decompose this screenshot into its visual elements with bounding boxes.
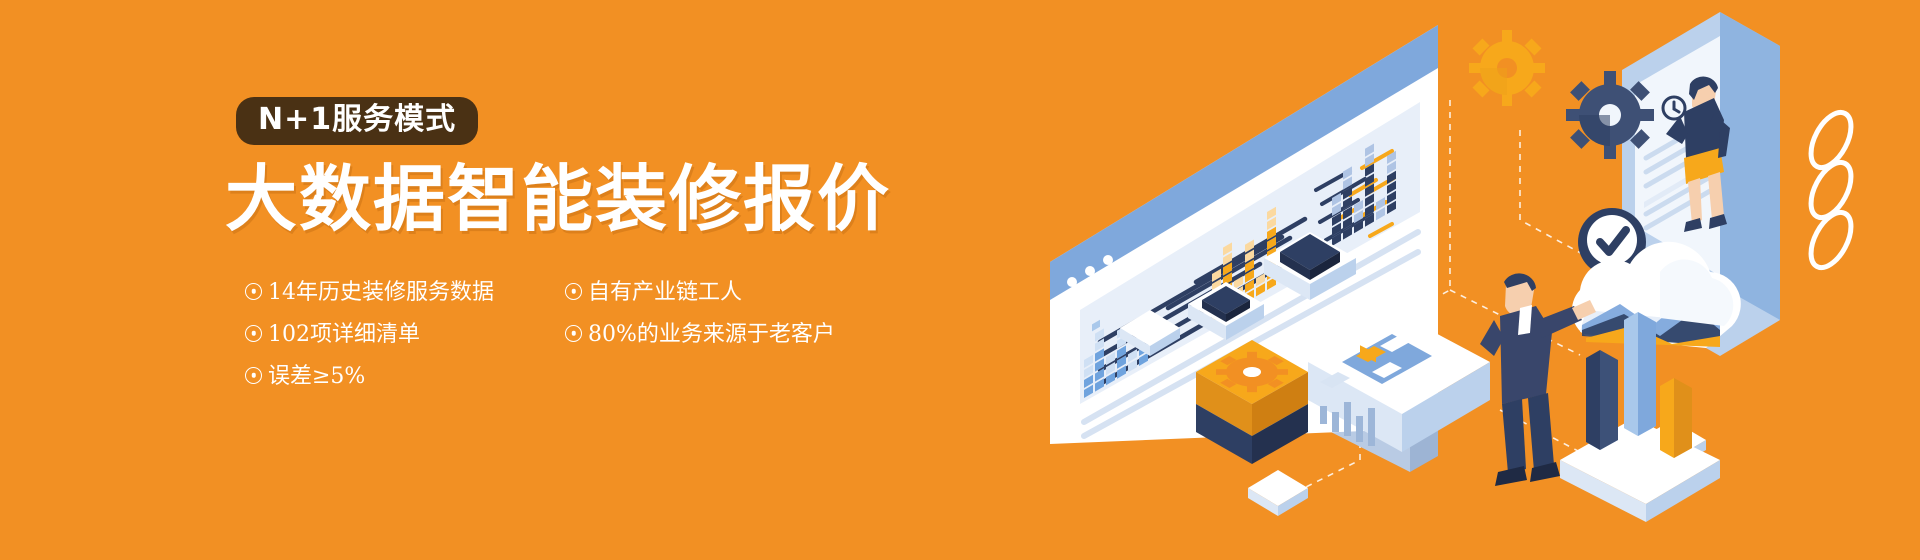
bullet-column-right: 80%的业务来源于老客户 <box>565 314 885 356</box>
list-item: 14年历史装修服务数据 <box>245 272 565 314</box>
list-item: 80%的业务来源于老客户 <box>565 314 885 356</box>
navy-gear-icon <box>1566 71 1654 159</box>
bullet-column-left: 102项详细清单 <box>245 314 565 356</box>
bullet-column-right: 自有产业链工人 <box>565 272 885 314</box>
orange-gear-icon <box>1469 30 1545 106</box>
target-dot-icon <box>245 325 262 342</box>
list-item: 误差≥5% <box>245 356 565 398</box>
bullet-row: 误差≥5% <box>245 356 885 398</box>
bullet-row: 14年历史装修服务数据 自有产业链工人 <box>245 272 885 314</box>
list-item-label: 80%的业务来源于老客户 <box>588 322 835 347</box>
ring-stack <box>1803 106 1859 274</box>
promo-banner: N+1服务模式 大数据智能装修报价 14年历史装修服务数据 自有产业链工人 <box>0 0 1920 560</box>
list-item-label: 14年历史装修服务数据 <box>268 280 494 305</box>
list-item: 自有产业链工人 <box>565 272 885 314</box>
list-item-label: 自有产业链工人 <box>588 280 742 305</box>
target-dot-icon <box>245 367 262 384</box>
target-dot-icon <box>245 283 262 300</box>
list-item-label: 102项详细清单 <box>268 322 420 347</box>
bullet-row: 102项详细清单 80%的业务来源于老客户 <box>245 314 885 356</box>
window-dot <box>1085 266 1095 276</box>
service-model-badge: N+1服务模式 <box>236 97 478 145</box>
bullet-column-left: 14年历史装修服务数据 <box>245 272 565 314</box>
list-item-label: 误差≥5% <box>268 364 365 389</box>
target-dot-icon <box>565 325 582 342</box>
target-dot-icon <box>565 283 582 300</box>
banner-copy-block: N+1服务模式 大数据智能装修报价 14年历史装修服务数据 自有产业链工人 <box>0 0 1000 560</box>
bullet-column-left: 误差≥5% <box>245 356 565 398</box>
isometric-illustration <box>1020 0 1920 560</box>
window-dot <box>1103 255 1113 265</box>
page-title: 大数据智能装修报价 <box>225 163 891 235</box>
bullet-column-right <box>565 356 885 398</box>
list-item: 102项详细清单 <box>245 314 565 356</box>
feature-bullet-list: 14年历史装修服务数据 自有产业链工人 102项详细清单 <box>245 272 885 398</box>
window-dot <box>1067 277 1077 287</box>
